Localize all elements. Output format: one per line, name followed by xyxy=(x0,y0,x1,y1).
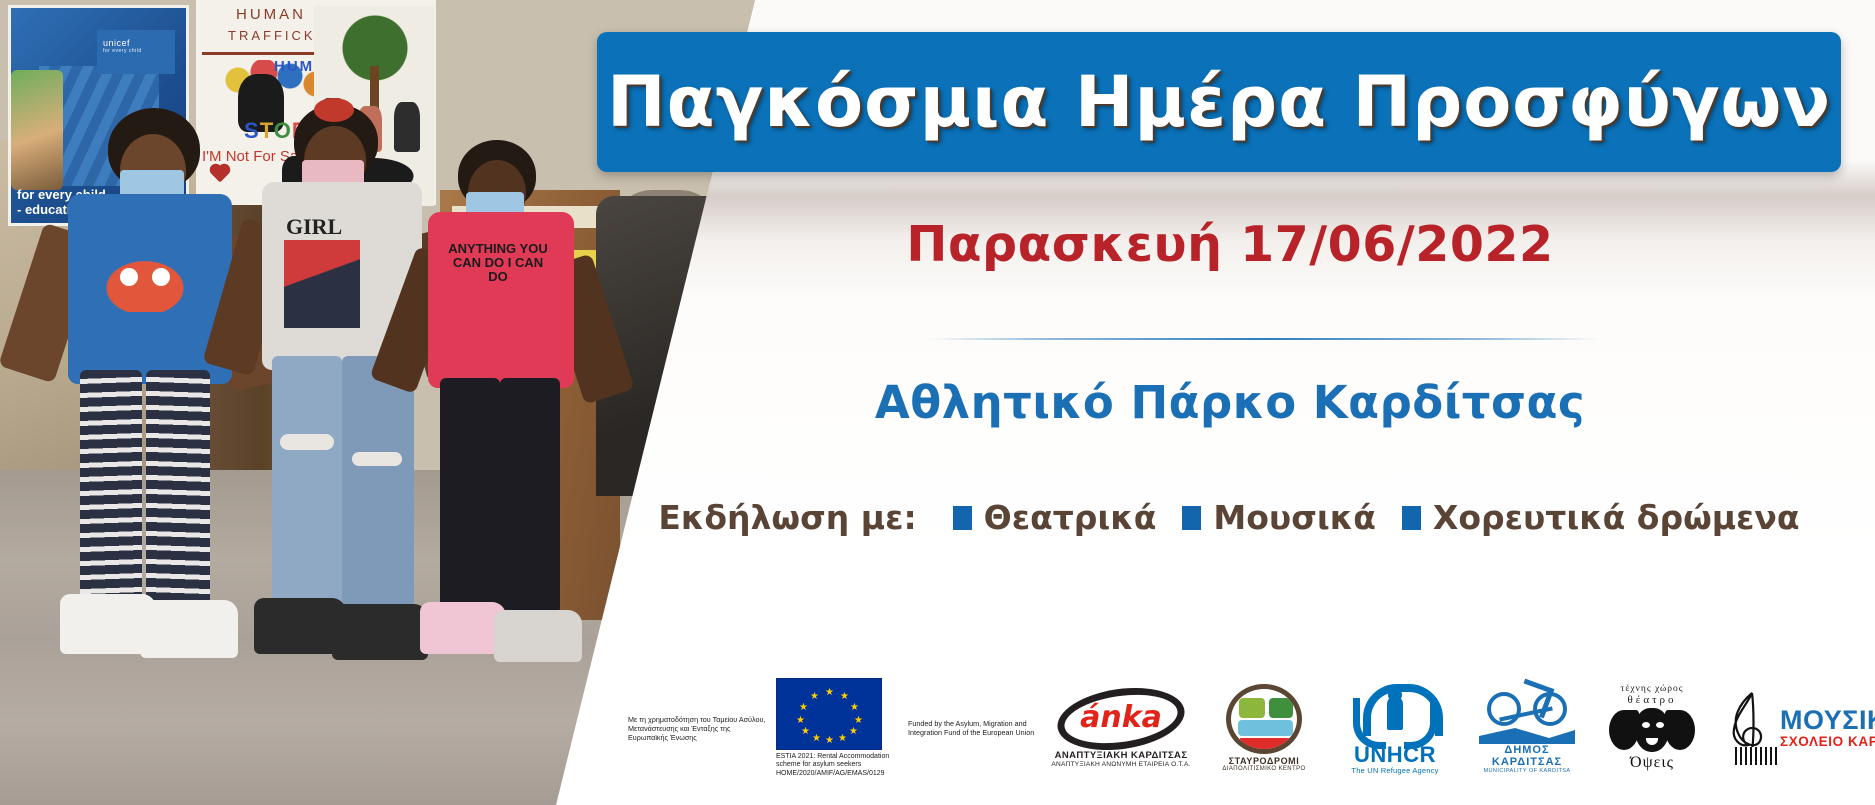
square-bullet-icon xyxy=(1182,506,1201,530)
opseis-line3: Όψεις xyxy=(1630,754,1674,772)
leg-right xyxy=(146,370,210,606)
opseis-theatre-logo: τέχνης χώρος θέατρο Όψεις xyxy=(1596,684,1708,772)
eu-funding-logo: Με τη χρηματοδότηση του Ταμείου Ασύλου, … xyxy=(628,678,1036,779)
anka-mark-icon: ánka xyxy=(1057,689,1185,749)
event-item-theatrical: Θεατρικά xyxy=(953,498,1157,537)
anka-line1: ΑΝΑΠΤΥΞΙΑΚΗ ΚΑΡΔΙΤΣΑΣ xyxy=(1055,750,1188,761)
music-school-line2: ΣΧΟΛΕΙΟ ΚΑΡΔΙΤΣΑΣ xyxy=(1780,734,1875,750)
opseis-line1: τέχνης χώρος xyxy=(1621,684,1684,694)
anka-wordmark: ánka xyxy=(1057,703,1185,733)
stavrodromi-globe-icon xyxy=(1226,684,1302,754)
piano-keys-icon xyxy=(1732,747,1780,765)
section-divider xyxy=(928,338,1600,340)
event-item-dance: Χορευτικά δρώμενα xyxy=(1402,498,1800,537)
crab-print xyxy=(102,258,188,312)
person-body-icon xyxy=(1387,696,1403,730)
leg-left xyxy=(440,378,500,610)
tshirt-slogan: ANYTHING YOU CAN DO I CAN DO xyxy=(442,242,554,284)
karditsa-line2: ΚΑΡΔΙΤΣΑΣ xyxy=(1492,756,1562,768)
eu-flag-icon: ★ ★ ★ ★ ★ ★ ★ ★ ★ ★ ★ ★ xyxy=(776,678,882,750)
mask-face xyxy=(1635,708,1669,752)
leg-left xyxy=(272,356,342,606)
globe-segment xyxy=(1240,738,1292,752)
page-title: Παγκόσμια Ημέρα Προσφύγων xyxy=(607,61,1831,143)
event-item-label: Χορευτικά δρώμενα xyxy=(1433,498,1800,537)
globe-segment xyxy=(1269,698,1293,718)
shoe-right xyxy=(494,610,582,662)
sponsor-logos-strip: Με τη χρηματοδότηση του Ταμείου Ασύλου, … xyxy=(628,663,1868,793)
globe-segment xyxy=(1238,720,1293,736)
eu-funding-text-english: Funded by the Asylum, Migration and Inte… xyxy=(908,719,1036,737)
unhcr-wordmark: UNHCR xyxy=(1354,744,1436,766)
jeans-rip xyxy=(352,452,402,466)
tshirt-print-text: GIRL xyxy=(286,214,342,240)
eu-flag-block: ★ ★ ★ ★ ★ ★ ★ ★ ★ ★ ★ ★ ESTIA 2021: Rent… xyxy=(776,678,900,779)
mask-wing-right xyxy=(1665,710,1695,750)
event-item-musical: Μουσικά xyxy=(1182,498,1375,537)
karditsa-municipality-logo: ΔΗΜΟΣ ΚΑΡΔΙΤΣΑΣ MUNICIPALITY OF KARDITSA xyxy=(1468,682,1586,774)
anka-logo: ánka ΑΝΑΠΤΥΞΙΑΚΗ ΚΑΡΔΙΤΣΑΣ ΑΝΑΠΤΥΞΙΑΚΗ Α… xyxy=(1046,689,1196,768)
unicef-logo: unicef for every child xyxy=(103,38,142,54)
hair-bow xyxy=(314,98,354,122)
leg-right xyxy=(500,378,560,614)
event-date: Παρασκευή 17/06/2022 xyxy=(640,216,1820,273)
event-item-label: Μουσικά xyxy=(1213,498,1375,537)
opseis-line2: θέατρο xyxy=(1627,694,1676,706)
stavrodromi-line2: ΔΙΑΠΟΛΙΤΙΣΜΙΚΟ ΚΕΝΤΡΟ xyxy=(1222,766,1305,772)
events-label: Εκδήλωση με: xyxy=(658,498,916,537)
events-row: Εκδήλωση με: Θεατρικά Μουσικά Χορευτικά … xyxy=(600,498,1858,537)
unhcr-emblem-icon xyxy=(1353,682,1437,744)
title-banner: Παγκόσμια Ημέρα Προσφύγων xyxy=(597,32,1841,172)
event-venue: Αθλητικό Πάρκο Καρδίτσας xyxy=(640,376,1820,429)
sheltering-hands-icon xyxy=(1363,684,1443,736)
theatre-masks-icon xyxy=(1609,708,1695,752)
trafficking-title-1: HUMAN xyxy=(236,6,306,23)
poster-canvas: unicef for every child for every child -… xyxy=(0,0,1875,805)
globe-shape xyxy=(1226,684,1302,754)
square-bullet-icon xyxy=(953,506,972,530)
globe-segment xyxy=(1239,698,1265,718)
unhcr-logo: UNHCR The UN Refugee Agency xyxy=(1332,682,1458,775)
mask-eye xyxy=(1642,722,1650,728)
shoe-right xyxy=(140,600,238,658)
music-school-logo: ΜΟΥΣΙΚΟ ΣΧΟΛΕΙΟ ΚΑΡΔΙΤΣΑΣ xyxy=(1718,689,1875,767)
jeans-rip xyxy=(280,434,334,450)
eu-programme-caption: ESTIA 2021: Rental Accommodation scheme … xyxy=(776,753,900,779)
tshirt-print-graphic xyxy=(284,240,360,328)
eu-funding-text-greek: Με τη χρηματοδότηση του Ταμείου Ασύλου, … xyxy=(628,715,768,742)
square-bullet-icon xyxy=(1402,506,1421,530)
music-school-text: ΜΟΥΣΙΚΟ ΣΧΟΛΕΙΟ ΚΑΡΔΙΤΣΑΣ xyxy=(1780,706,1875,750)
crab-eye xyxy=(152,268,170,286)
leg-left xyxy=(80,370,142,600)
unicef-tagline: for every child xyxy=(103,48,142,54)
stavrodromi-line1: ΣΤΑΥΡΟΔΡΟΜΙ xyxy=(1229,756,1300,766)
stavrodromi-logo: ΣΤΑΥΡΟΔΡΟΜΙ ΔΙΑΠΟΛΙΤΙΣΜΙΚΟ ΚΕΝΤΡΟ xyxy=(1206,684,1322,772)
mask-eye xyxy=(1656,722,1664,728)
anka-line2: ΑΝΑΠΤΥΞΙΑΚΗ ΑΝΩΝΥΜΗ ΕΤΑΙΡΕΙΑ Ο.Τ.Α. xyxy=(1051,761,1190,768)
hills-icon xyxy=(1479,726,1575,744)
crab-eye xyxy=(120,268,138,286)
event-item-label: Θεατρικά xyxy=(984,498,1157,537)
music-school-line1: ΜΟΥΣΙΚΟ xyxy=(1780,706,1875,734)
karditsa-line3: MUNICIPALITY OF KARDITSA xyxy=(1483,768,1570,774)
cyclist-icon xyxy=(1479,682,1575,744)
unicef-wordmark: unicef xyxy=(103,38,130,48)
tshirt xyxy=(428,212,574,388)
bicycle-wheel-icon xyxy=(1487,692,1521,726)
treble-clef-icon xyxy=(1718,689,1780,767)
karditsa-line1: ΔΗΜΟΣ xyxy=(1504,744,1549,756)
unhcr-subtitle: The UN Refugee Agency xyxy=(1351,766,1438,775)
